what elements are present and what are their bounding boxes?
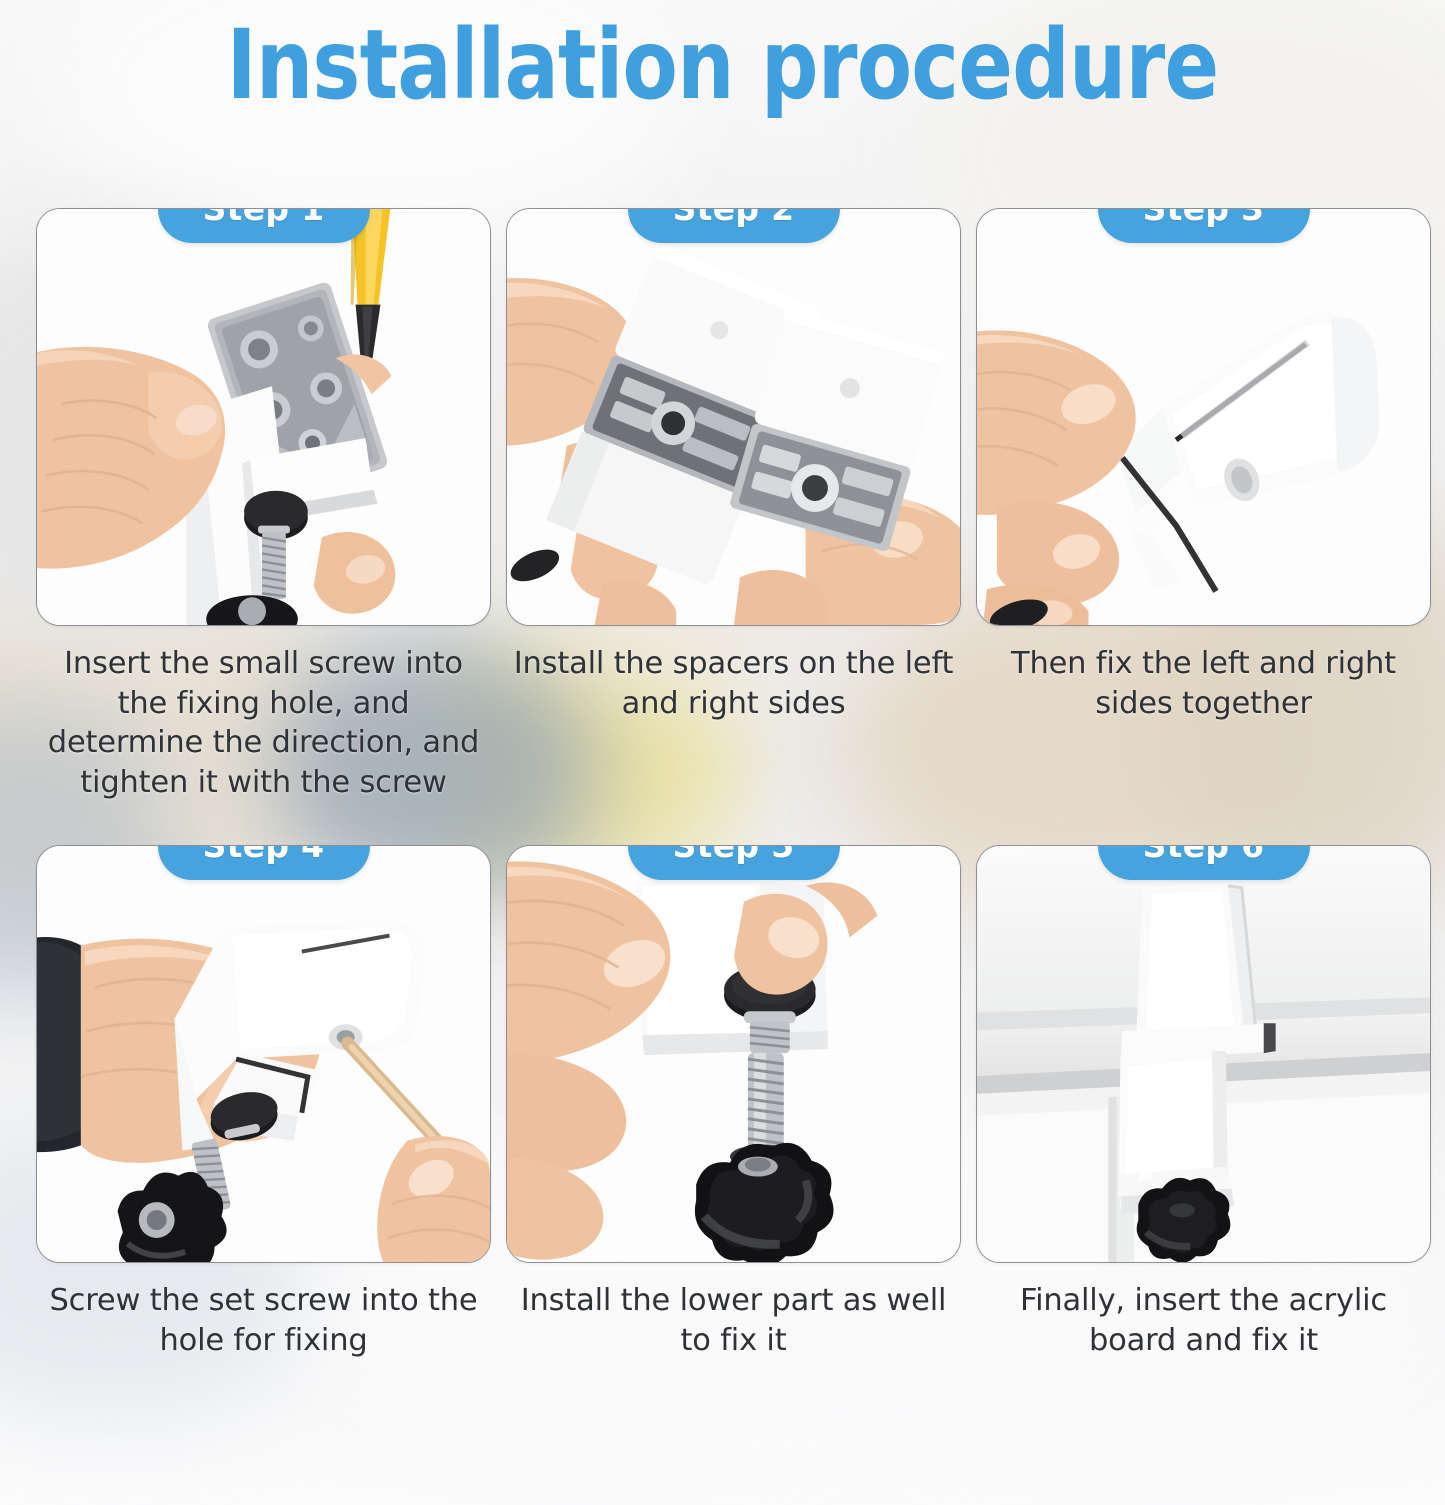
step-badge-2: Step 2 [628, 208, 840, 243]
illustration-step-4 [37, 846, 490, 1262]
illustration-step-2 [507, 209, 960, 625]
step-cell-6: Step 6 Finally, insert the acrylic board… [976, 845, 1431, 1360]
step-cell-5: Step 5 Install the lower part as well to… [506, 845, 961, 1360]
step-photo-2 [507, 209, 960, 625]
step-photo-card-2: Step 2 [506, 208, 961, 626]
step-photo-5 [507, 846, 960, 1262]
step-photo-4 [37, 846, 490, 1262]
step-cell-4: Step 4 Screw the set screw into the hole… [36, 845, 491, 1360]
illustration-step-5 [507, 846, 960, 1262]
step-caption-6: Finally, insert the acrylic board and fi… [976, 1281, 1431, 1360]
step-photo-card-1: Step 1 [36, 208, 491, 626]
infographic-page: Installation procedure [0, 0, 1445, 1445]
step-photo-card-6: Step 6 [976, 845, 1431, 1263]
step-badge-5: Step 5 [628, 845, 840, 880]
step-badge-6: Step 6 [1098, 845, 1310, 880]
step-cell-1: Step 1 Insert the small screw into the f… [36, 208, 491, 803]
step-badge-3: Step 3 [1098, 208, 1310, 243]
step-caption-2: Install the spacers on the left and righ… [506, 644, 961, 723]
step-badge-4: Step 4 [158, 845, 370, 880]
illustration-step-3 [977, 209, 1430, 625]
step-cell-2: Step 2 Install the spacers on the left a… [506, 208, 961, 723]
step-photo-card-3: Step 3 [976, 208, 1431, 626]
step-caption-3: Then fix the left and right sides togeth… [976, 644, 1431, 723]
illustration-step-1 [37, 209, 490, 625]
step-caption-1: Insert the small screw into the fixing h… [36, 644, 491, 803]
step-caption-5: Install the lower part as well to fix it [506, 1281, 961, 1360]
step-badge-1: Step 1 [158, 208, 370, 243]
step-photo-1 [37, 209, 490, 625]
illustration-step-6 [977, 846, 1430, 1262]
step-photo-card-5: Step 5 [506, 845, 961, 1263]
step-photo-3 [977, 209, 1430, 625]
step-cell-3: Step 3 Then fix the left and right sides… [976, 208, 1431, 723]
step-caption-4: Screw the set screw into the hole for fi… [36, 1281, 491, 1360]
page-title: Installation procedure [116, 14, 1330, 118]
step-photo-card-4: Step 4 [36, 845, 491, 1263]
step-photo-6 [977, 846, 1430, 1262]
